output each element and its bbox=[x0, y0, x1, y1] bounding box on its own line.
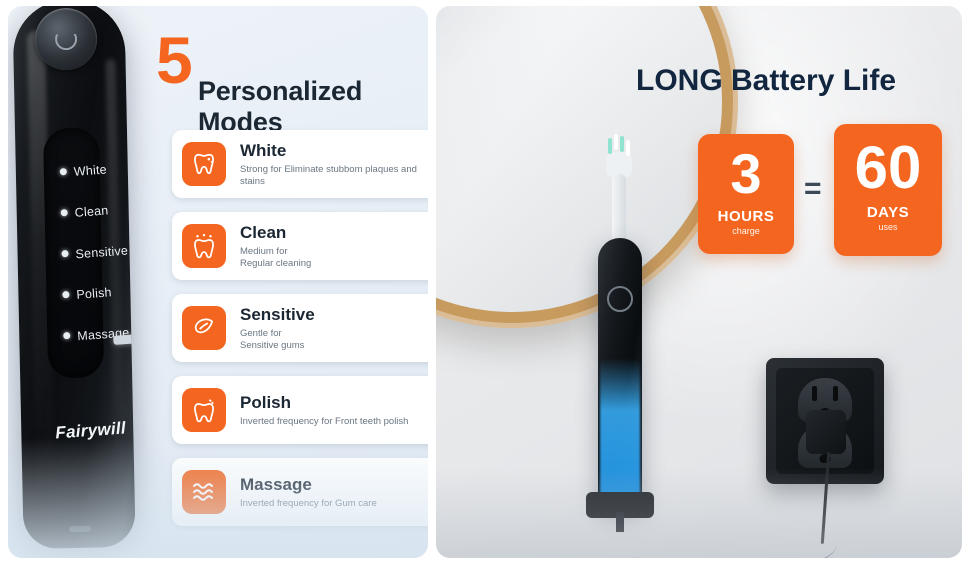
headline-text: Personalized Modes bbox=[198, 76, 428, 138]
mode-card-polish: Polish Inverted frequency for Front teet… bbox=[172, 376, 428, 444]
power-plug bbox=[806, 410, 846, 454]
mode-card-clean: Clean Medium for Regular cleaning bbox=[172, 212, 428, 280]
stat-charge-hours: 3 HOURS charge bbox=[698, 134, 794, 254]
stat-usage-days: 60 DAYS uses bbox=[834, 124, 942, 256]
stat-sublabel: uses bbox=[834, 222, 942, 232]
power-symbol-icon bbox=[55, 28, 77, 50]
device-mode-label: White bbox=[73, 162, 107, 178]
tooth-sensitive-icon bbox=[182, 306, 226, 350]
brush-neck bbox=[612, 174, 626, 244]
stat-label: HOURS bbox=[698, 208, 794, 225]
stat-number: 60 bbox=[834, 124, 942, 198]
device-mode-clean: Clean bbox=[45, 204, 136, 223]
device-mode-sensitive: Sensitive bbox=[45, 245, 135, 264]
toothbrush-body-left: White Clean Sensitive Polish Massage Fai… bbox=[12, 6, 135, 549]
waves-massage-icon bbox=[182, 470, 226, 514]
battery-title-strong: LONG bbox=[636, 64, 723, 97]
mode-card-desc: Inverted frequency for Gum care bbox=[240, 498, 377, 510]
stat-label: DAYS bbox=[834, 204, 942, 221]
mode-card-desc: Medium for Regular cleaning bbox=[240, 246, 311, 270]
headline-number: 5 bbox=[156, 30, 193, 90]
bristle bbox=[608, 138, 612, 154]
device-mode-polish: Polish bbox=[46, 286, 135, 305]
mode-card-white: White Strong for Eliminate stubbom plaqu… bbox=[172, 130, 428, 198]
device-mode-label: Sensitive bbox=[75, 244, 128, 262]
mode-card-title: Clean bbox=[240, 223, 311, 243]
mode-card-list: White Strong for Eliminate stubbom plaqu… bbox=[172, 130, 428, 540]
mode-card-title: Massage bbox=[240, 475, 377, 495]
socket-slot bbox=[833, 386, 838, 401]
power-button-right-icon[interactable] bbox=[607, 286, 633, 312]
mode-indicator-dot bbox=[63, 332, 70, 339]
power-button-icon[interactable] bbox=[34, 7, 97, 70]
tooth-clean-icon bbox=[182, 224, 226, 268]
mode-indicator-dot bbox=[61, 209, 68, 216]
socket-slot bbox=[812, 386, 817, 401]
device-mode-label: Clean bbox=[74, 203, 109, 219]
mode-indicator-dot bbox=[60, 168, 67, 175]
mode-card-massage: Massage Inverted frequency for Gum care bbox=[172, 458, 428, 526]
brand-logo-text: Fairywill bbox=[55, 415, 136, 444]
bristle bbox=[620, 136, 624, 152]
mode-indicator-dot bbox=[62, 250, 69, 257]
tooth-white-icon bbox=[182, 142, 226, 186]
tooth-polish-icon bbox=[182, 388, 226, 432]
battery-title-rest: Battery Life bbox=[723, 64, 896, 97]
mode-card-title: White bbox=[240, 141, 425, 161]
bristle bbox=[626, 140, 630, 156]
device-mode-label: Polish bbox=[76, 285, 112, 302]
device-mode-white: White bbox=[44, 163, 136, 182]
body-highlight-secondary bbox=[106, 59, 125, 479]
mode-card-sensitive: Sensitive Gentle for Sensitive gums bbox=[172, 294, 428, 362]
bristle bbox=[614, 134, 618, 150]
battery-title: LONG Battery Life bbox=[636, 64, 896, 98]
battery-bar-indicator-icon bbox=[113, 334, 136, 345]
left-panel-modes: White Clean Sensitive Polish Massage Fai… bbox=[8, 6, 428, 558]
stat-number: 3 bbox=[698, 134, 794, 202]
mode-indicator-dot bbox=[62, 291, 69, 298]
mode-card-desc: Gentle for Sensitive gums bbox=[240, 328, 315, 352]
mode-card-title: Sensitive bbox=[240, 305, 315, 325]
charging-contact bbox=[69, 526, 91, 532]
floor-gradient bbox=[436, 468, 962, 558]
product-infographic: White Clean Sensitive Polish Massage Fai… bbox=[0, 0, 970, 570]
mode-card-title: Polish bbox=[240, 393, 408, 413]
equals-sign: = bbox=[804, 172, 822, 206]
stat-sublabel: charge bbox=[698, 226, 794, 236]
mode-card-desc: Inverted frequency for Front teeth polis… bbox=[240, 416, 408, 428]
mode-card-desc: Strong for Eliminate stubbom plaques and… bbox=[240, 164, 425, 188]
right-panel-battery: LONG Battery Life 3 HOURS charge = 60 DA… bbox=[436, 6, 962, 558]
